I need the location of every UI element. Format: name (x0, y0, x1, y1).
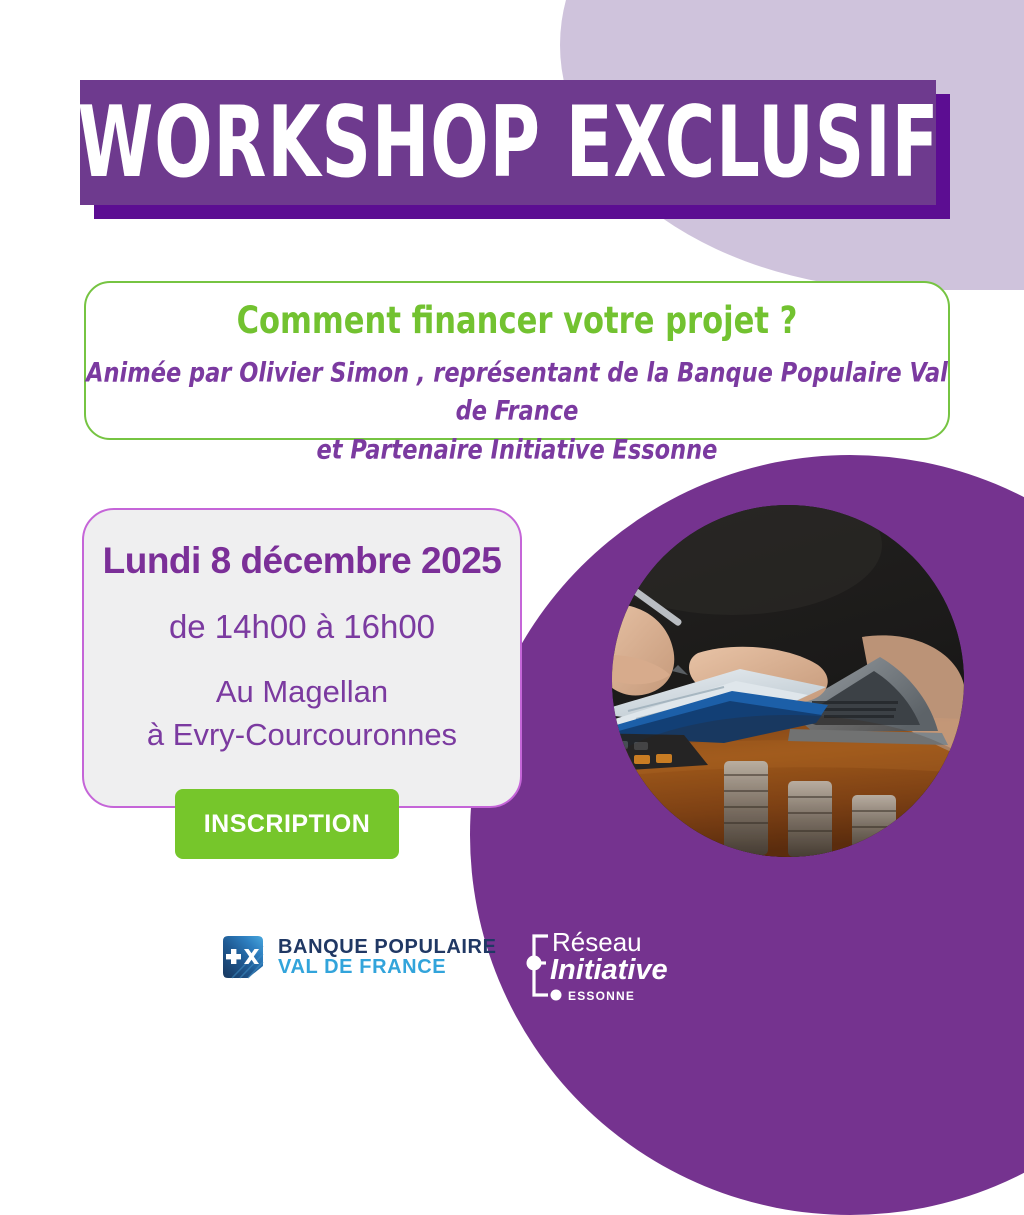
inscription-button-label: INSCRIPTION (204, 810, 371, 839)
logo-bp-line-1: BANQUE POPULAIRE (278, 936, 497, 958)
event-date: Lundi 8 décembre 2025 (84, 540, 520, 582)
inscription-button[interactable]: INSCRIPTION (175, 789, 399, 859)
event-photo (612, 505, 964, 857)
logo-reseau-initiative: Réseau Initiative ESSONNE (516, 925, 696, 1010)
speaker-info: Animée par Olivier Simon , représentant … (86, 354, 948, 469)
svg-text:Initiative: Initiative (550, 954, 668, 986)
logo-banque-populaire: BANQUE POPULAIRE VAL DE FRANCE (218, 932, 497, 982)
logo-bp-line-2: VAL DE FRANCE (278, 956, 446, 978)
venue-line-2: à Evry-Courcouronnes (84, 714, 520, 757)
plus-x-icon (218, 932, 268, 982)
svg-text:ESSONNE: ESSONNE (568, 989, 635, 1003)
title-banner: WORKSHOP EXCLUSIF (80, 80, 936, 205)
title-banner-front: WORKSHOP EXCLUSIF (80, 80, 936, 205)
question-card: Comment financer votre projet ? Animée p… (84, 281, 950, 440)
venue-line-1: Au Magellan (216, 674, 388, 709)
speaker-line-2: et Partenaire Initiative Essonne (86, 431, 948, 469)
event-venue: Au Magellan à Evry-Courcouronnes (84, 671, 520, 757)
page-title: WORKSHOP EXCLUSIF (77, 94, 939, 192)
svg-text:Réseau: Réseau (552, 927, 642, 957)
event-details-card: Lundi 8 décembre 2025 de 14h00 à 16h00 A… (82, 508, 522, 808)
speaker-line-1: Animée par Olivier Simon , représentant … (86, 357, 948, 426)
event-time: de 14h00 à 16h00 (84, 608, 520, 646)
question-heading: Comment financer votre projet ? (237, 299, 798, 343)
logo-banque-populaire-text: BANQUE POPULAIRE VAL DE FRANCE (278, 937, 497, 978)
